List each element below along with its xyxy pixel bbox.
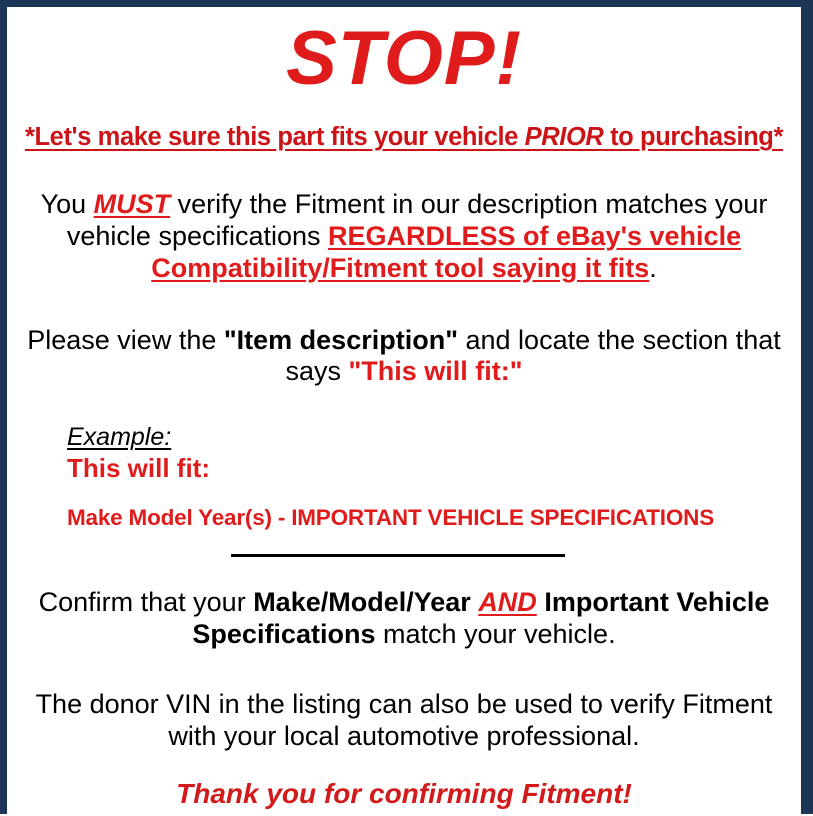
view-lead-text: Please view the <box>27 325 224 355</box>
example-block: Example: This will fit: Make Model Year(… <box>21 424 787 530</box>
paragraph-must-verify: You MUST verify the Fitment in our descr… <box>21 189 787 285</box>
confirm-tail-text: match your vehicle. <box>375 619 615 649</box>
example-fit-heading: This will fit: <box>67 454 787 484</box>
notice-subtitle: *Let's make sure this part fits your veh… <box>21 123 787 151</box>
paragraph-confirm: Confirm that your Make/Model/Year AND Im… <box>21 587 787 651</box>
thank-you-line: Thank you for confirming Fitment! <box>21 779 787 810</box>
notice-content: STOP! *Let's make sure this part fits yo… <box>7 21 801 816</box>
emphasis-must: MUST <box>94 189 171 219</box>
section-divider <box>231 554 565 557</box>
section-divider-wrap <box>21 554 787 557</box>
emphasis-item-description: "Item description" <box>224 325 458 355</box>
emphasis-this-will-fit: "This will fit:" <box>348 356 522 386</box>
emphasis-make-model-year: Make/Model/Year <box>253 587 471 617</box>
paragraph-item-description: Please view the "Item description" and l… <box>21 325 787 389</box>
confirm-lead-text: Confirm that your <box>39 587 254 617</box>
example-label: Example: <box>67 424 787 452</box>
subtitle-text-lead: *Let's make sure this part fits your veh… <box>25 123 525 151</box>
emphasis-and: AND <box>478 587 537 617</box>
page-title: STOP! <box>21 21 787 97</box>
must-tail-text: . <box>649 253 657 283</box>
example-spec-line: Make Model Year(s) - IMPORTANT VEHICLE S… <box>67 506 787 531</box>
must-lead-text: You <box>41 189 94 219</box>
fitment-notice-card: STOP! *Let's make sure this part fits yo… <box>0 0 813 814</box>
paragraph-donor-vin: The donor VIN in the listing can also be… <box>21 689 787 753</box>
subtitle-emphasis-prior: PRIOR <box>525 123 604 151</box>
subtitle-text-tail: to purchasing* <box>603 123 783 151</box>
